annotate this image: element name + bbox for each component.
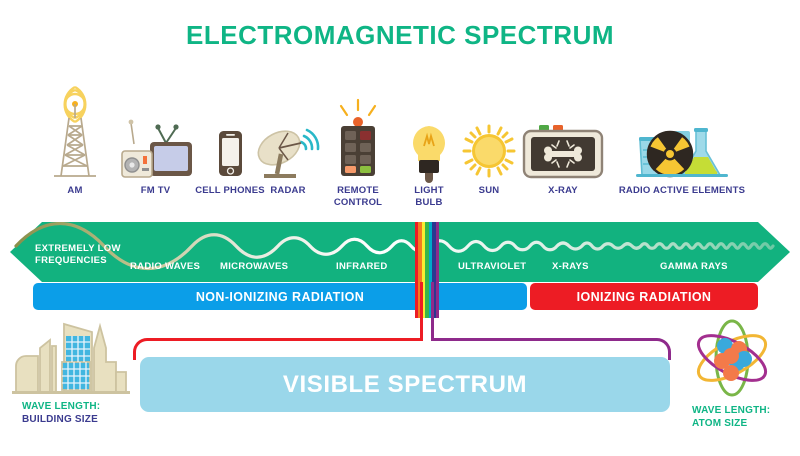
wavelength-atom-group: WAVE LENGTH: ATOM SIZE (682, 318, 794, 426)
radioactive-flasks-icon (612, 88, 752, 183)
light-bulb-icon (398, 88, 460, 183)
band-label-infrared: INFRARED (336, 261, 387, 273)
source-label-radio-active-elements: RADIO ACTIVE ELEMENTS (612, 185, 752, 197)
source-label-remote-control: REMOTE CONTROL (320, 185, 396, 209)
band-label-ultraviolet: ULTRAVIOLET (458, 261, 526, 273)
source-item-radio-active-elements: RADIO ACTIVE ELEMENTS (612, 88, 752, 197)
band-label-x-rays: X-RAYS (552, 261, 589, 273)
infographic-canvas: ELECTROMAGNETIC SPECTRUM AM (0, 0, 800, 456)
source-label-fm-tv: FM TV (118, 185, 193, 197)
remote-control-icon (320, 88, 396, 183)
band-label-radio-waves: RADIO WAVES (130, 261, 200, 273)
source-item-sun: SUN (455, 88, 523, 197)
wavelength-right-line1: WAVE LENGTH: (692, 404, 800, 417)
source-label-x-ray: X-RAY (515, 185, 611, 197)
spectrum-band-labels: EXTREMELY LOW FREQUENCIES RADIO WAVES MI… (0, 222, 800, 282)
wavelength-caption-right: WAVE LENGTH: ATOM SIZE (692, 404, 800, 430)
connector-stem-purple (431, 282, 434, 340)
non-ionizing-radiation-bar: NON-IONIZING RADIATION (33, 283, 527, 310)
source-item-am: AM (40, 88, 110, 197)
source-label-am: AM (40, 185, 110, 197)
source-item-light-bulb: LIGHT BULB (398, 88, 460, 209)
rainbow-band-violet (436, 222, 439, 282)
wavelength-right-line2: ATOM SIZE (692, 417, 800, 430)
radar-dish-icon (252, 88, 324, 183)
source-item-x-ray: X-RAY (515, 88, 611, 197)
source-item-radar: RADAR (252, 88, 324, 197)
source-item-remote-control: REMOTE CONTROL (320, 88, 396, 209)
source-item-fm-tv: FM TV (118, 88, 193, 197)
x-ray-viewer-icon (515, 88, 611, 183)
visible-light-rainbow-extension (415, 282, 439, 318)
band-label-microwaves: MICROWAVES (220, 261, 288, 273)
band-label-gamma-rays: GAMMA RAYS (660, 261, 728, 273)
spectrum-band: EXTREMELY LOW FREQUENCIES RADIO WAVES MI… (0, 222, 800, 282)
sun-icon (455, 88, 523, 183)
band-label-extremely-low-frequencies: EXTREMELY LOW FREQUENCIES (35, 243, 121, 267)
page-title: ELECTROMAGNETIC SPECTRUM (0, 20, 800, 51)
visible-spectrum-box: VISIBLE SPECTRUM (140, 357, 670, 412)
source-label-sun: SUN (455, 185, 523, 197)
ionizing-radiation-bar: IONIZING RADIATION (530, 283, 758, 310)
wavelength-building-group: WAVE LENGTH: BUILDING SIZE (12, 318, 130, 422)
source-label-light-bulb: LIGHT BULB (398, 185, 460, 209)
rainbow-ext-violet (436, 282, 439, 318)
am-tower-icon (40, 88, 110, 183)
city-buildings-icon (12, 318, 130, 396)
visible-light-rainbow-strip (415, 222, 439, 282)
connector-stem-red (420, 282, 423, 340)
atom-icon (682, 318, 794, 400)
wavelength-left-line1: WAVE LENGTH: (22, 400, 140, 413)
radio-tv-icon (118, 88, 193, 183)
wavelength-left-line2: BUILDING SIZE (22, 413, 140, 426)
wavelength-caption-left: WAVE LENGTH: BUILDING SIZE (22, 400, 140, 426)
source-label-radar: RADAR (252, 185, 324, 197)
